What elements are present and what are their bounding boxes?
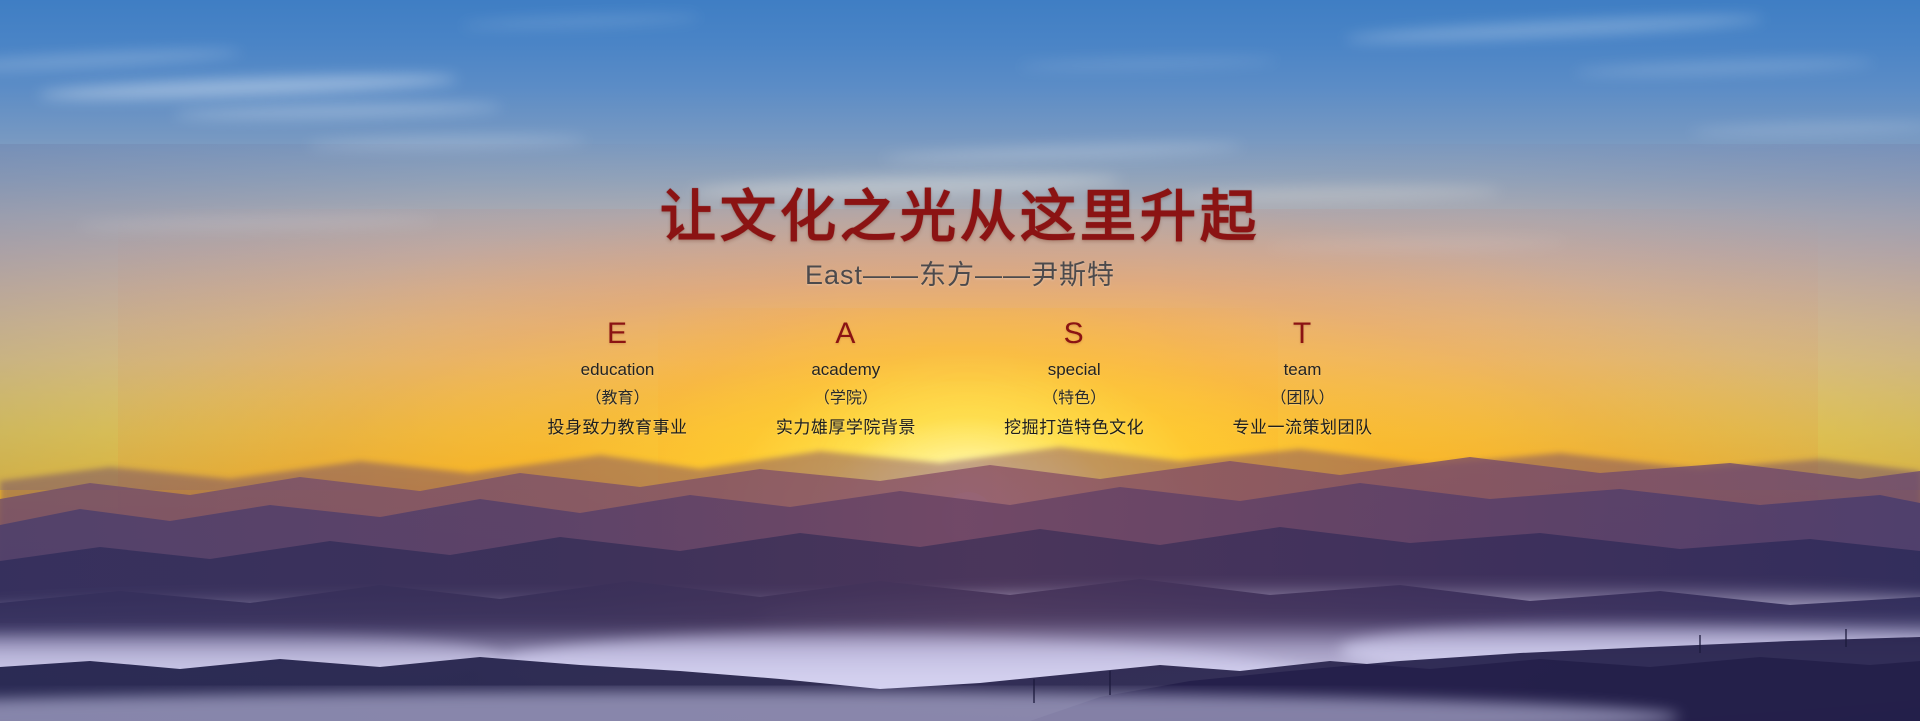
page-title: 让文化之光从这里升起: [0, 172, 1920, 253]
pillar-description: 投身致力教育事业: [510, 417, 725, 440]
pillar-item-education[interactable]: E education （教育） 投身致力教育事业: [510, 315, 725, 440]
hero-banner: 让文化之光从这里升起 East——东方——尹斯特 E education （教育…: [0, 0, 1920, 721]
pillar-letter: A: [738, 315, 953, 353]
pillar-item-academy[interactable]: A academy （学院） 实力雄厚学院背景: [738, 315, 953, 440]
pillar-chinese: （团队）: [1195, 388, 1410, 410]
pillar-english: academy: [738, 359, 953, 381]
pillar-description: 专业一流策划团队: [1195, 417, 1410, 440]
pillar-item-special[interactable]: S special （特色） 挖掘打造特色文化: [967, 315, 1182, 440]
mountain-ridges: [0, 421, 1920, 721]
pillar-list: E education （教育） 投身致力教育事业 A academy （学院）…: [510, 315, 1410, 440]
pillar-letter: T: [1195, 315, 1410, 353]
pillar-english: team: [1195, 359, 1410, 381]
pillar-chinese: （特色）: [967, 388, 1182, 410]
pillar-chinese: （学院）: [738, 388, 953, 410]
pillar-chinese: （教育）: [510, 388, 725, 410]
page-subtitle: East——东方——尹斯特: [0, 253, 1920, 292]
pillar-letter: E: [510, 315, 725, 353]
pillar-item-team[interactable]: T team （团队） 专业一流策划团队: [1195, 315, 1410, 440]
pillar-english: special: [967, 359, 1182, 381]
pillar-letter: S: [967, 315, 1182, 353]
pillar-english: education: [510, 359, 725, 381]
pillar-description: 实力雄厚学院背景: [738, 417, 953, 440]
pillar-description: 挖掘打造特色文化: [967, 417, 1182, 440]
